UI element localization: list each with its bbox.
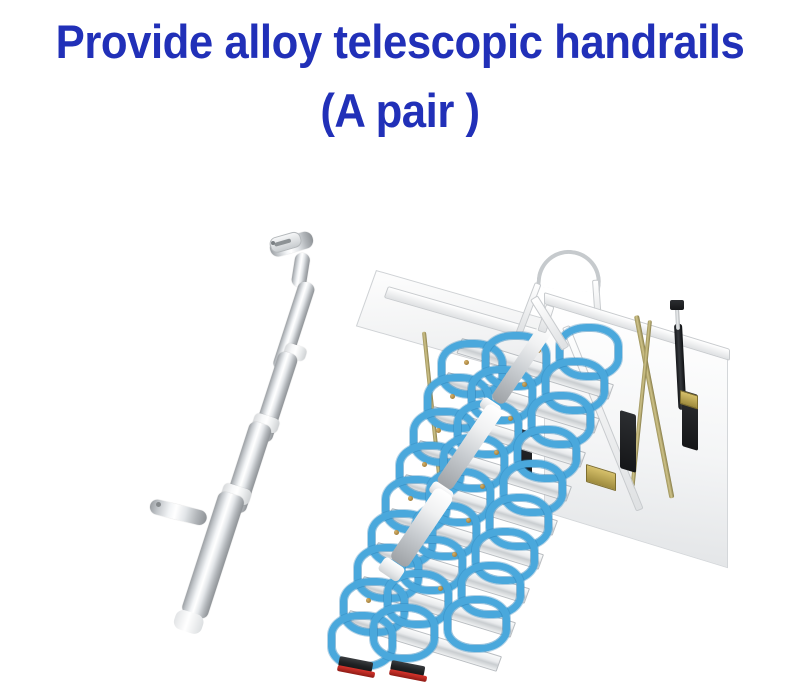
gas-strut-bracket-top [670,300,684,310]
link-rivet [480,484,485,489]
handrail-clevis-pin [271,241,275,245]
link-rivet [394,530,399,535]
link-rivet [408,496,413,501]
product-stage [0,180,800,682]
headline-secondary: (A pair ) [28,87,772,134]
link-rivet [452,552,457,557]
scissor-link [444,596,510,652]
banner-heading: Provide alloy telescopic handrails (A pa… [0,18,800,134]
link-rivet [464,360,469,365]
link-rivet [522,382,527,387]
scissor-link [370,604,438,662]
headline-primary: Provide alloy telescopic handrails [28,18,772,65]
link-rivet [494,450,499,455]
pivot-bracket-1 [620,410,636,473]
gas-strut-rod [675,308,680,330]
product-banner: Provide alloy telescopic handrails (A pa… [0,0,800,682]
link-rivet [466,518,471,523]
link-rivet [450,394,455,399]
link-rivet [436,428,441,433]
link-rivet [366,598,371,603]
link-rivet [508,416,513,421]
link-rivet [422,462,427,467]
link-rivet [438,586,443,591]
attic-ladder-icon [330,220,800,680]
handrail-mount-hole [156,502,161,507]
